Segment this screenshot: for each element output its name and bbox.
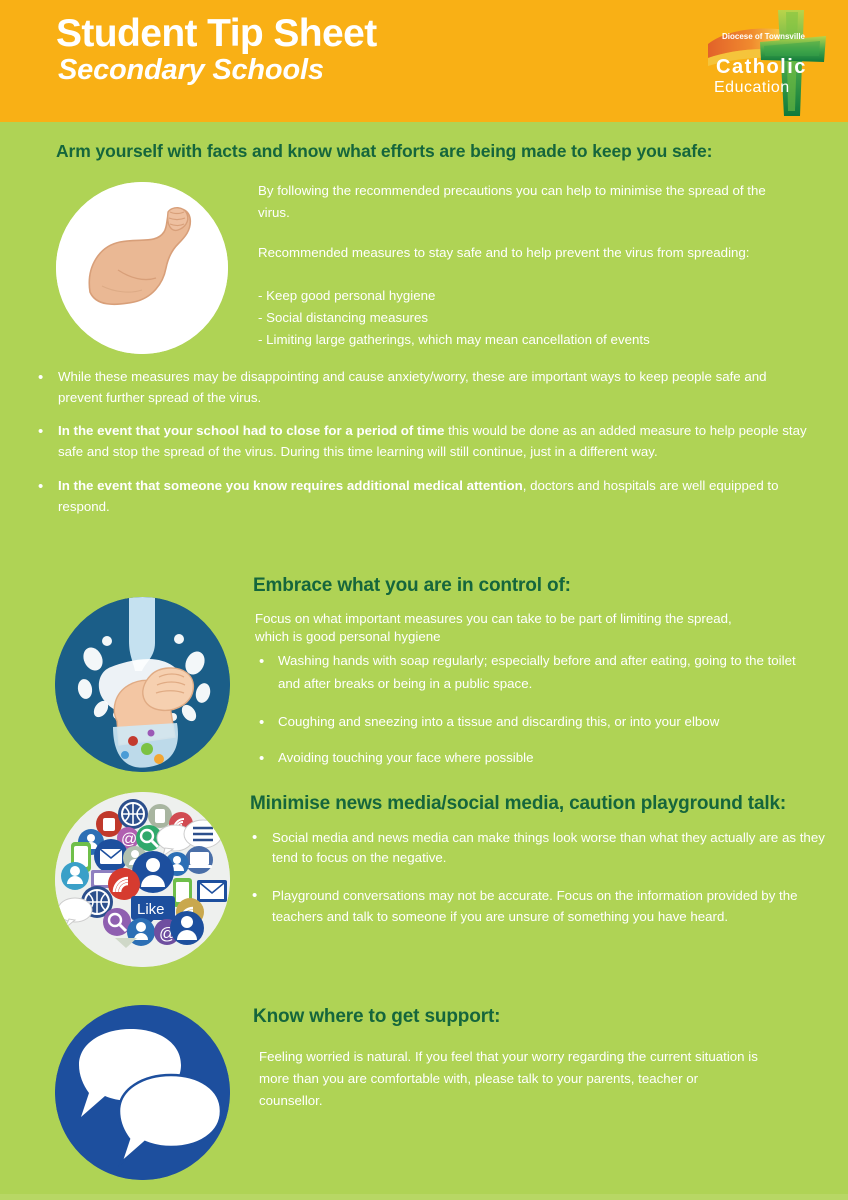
heading-know-support: Know where to get support: [253, 1006, 773, 1028]
facts-paragraph-2: Recommended measures to stay safe and to… [258, 244, 778, 262]
list-item: Coughing and sneezing into a tissue and … [248, 712, 818, 733]
heading-minimise-media: Minimise news media/social media, cautio… [250, 793, 830, 815]
list-item: Washing hands with soap regularly; espec… [248, 650, 818, 696]
support-paragraph: Feeling worried is natural. If you feel … [259, 1046, 759, 1112]
bullet-text: Avoiding touching your face where possib… [278, 750, 534, 765]
list-item: Social media and news media can make thi… [246, 828, 826, 868]
page-subtitle: Secondary Schools [58, 56, 324, 85]
facts-measure-1: - Keep good personal hygiene [258, 287, 798, 305]
facts-measure-3: - Limiting large gatherings, which may m… [258, 331, 818, 349]
list-item: Playground conversations may not be accu… [246, 886, 826, 926]
page-header: Student Tip Sheet Secondary Schools [0, 0, 848, 122]
bullet-bold-lead: In the event that your school had to clo… [58, 423, 444, 438]
logo-diocese-text: Diocese of Townsville [722, 32, 806, 41]
catholic-education-townsville-logo: Diocese of Townsville Catholic Education [700, 6, 830, 118]
list-item: While these measures may be disappointin… [32, 367, 812, 408]
logo-education-text: Education [714, 79, 790, 96]
list-item: Avoiding touching your face where possib… [248, 748, 818, 769]
page-title: Student Tip Sheet [56, 14, 377, 53]
bullet-text: While these measures may be disappointin… [58, 369, 767, 405]
list-item: In the event that your school had to clo… [32, 421, 812, 462]
list-item: In the event that someone you know requi… [32, 476, 812, 517]
bottom-band [0, 1194, 848, 1200]
control-bullet-list: Washing hands with soap regularly; espec… [248, 650, 818, 782]
social-media-icons-image: @ [55, 792, 230, 967]
tip-sheet-page: Student Tip Sheet Secondary Schools [0, 0, 848, 1200]
bicep-arm-image [56, 182, 228, 354]
like-label: Like [137, 901, 165, 918]
bullet-text: Social media and news media can make thi… [272, 830, 825, 865]
bullet-text: Coughing and sneezing into a tissue and … [278, 714, 719, 729]
facts-measure-2: - Social distancing measures [258, 309, 798, 327]
logo-catholic-text: Catholic [716, 56, 807, 78]
media-bullet-list: Social media and news media can make thi… [246, 828, 826, 940]
heading-embrace-control: Embrace what you are in control of: [253, 575, 813, 597]
facts-paragraph-1: By following the recommended precautions… [258, 180, 788, 223]
bullet-text: Washing hands with soap regularly; espec… [278, 653, 796, 691]
facts-bullet-list: While these measures may be disappointin… [32, 367, 812, 530]
control-intro-text: Focus on what important measures you can… [255, 610, 765, 647]
bullet-text: Playground conversations may not be accu… [272, 888, 798, 923]
bullet-bold-lead: In the event that someone you know requi… [58, 478, 523, 493]
hand-washing-image [55, 597, 230, 772]
heading-arm-yourself-with-facts: Arm yourself with facts and know what ef… [56, 141, 826, 161]
speech-bubbles-image [55, 1005, 230, 1180]
